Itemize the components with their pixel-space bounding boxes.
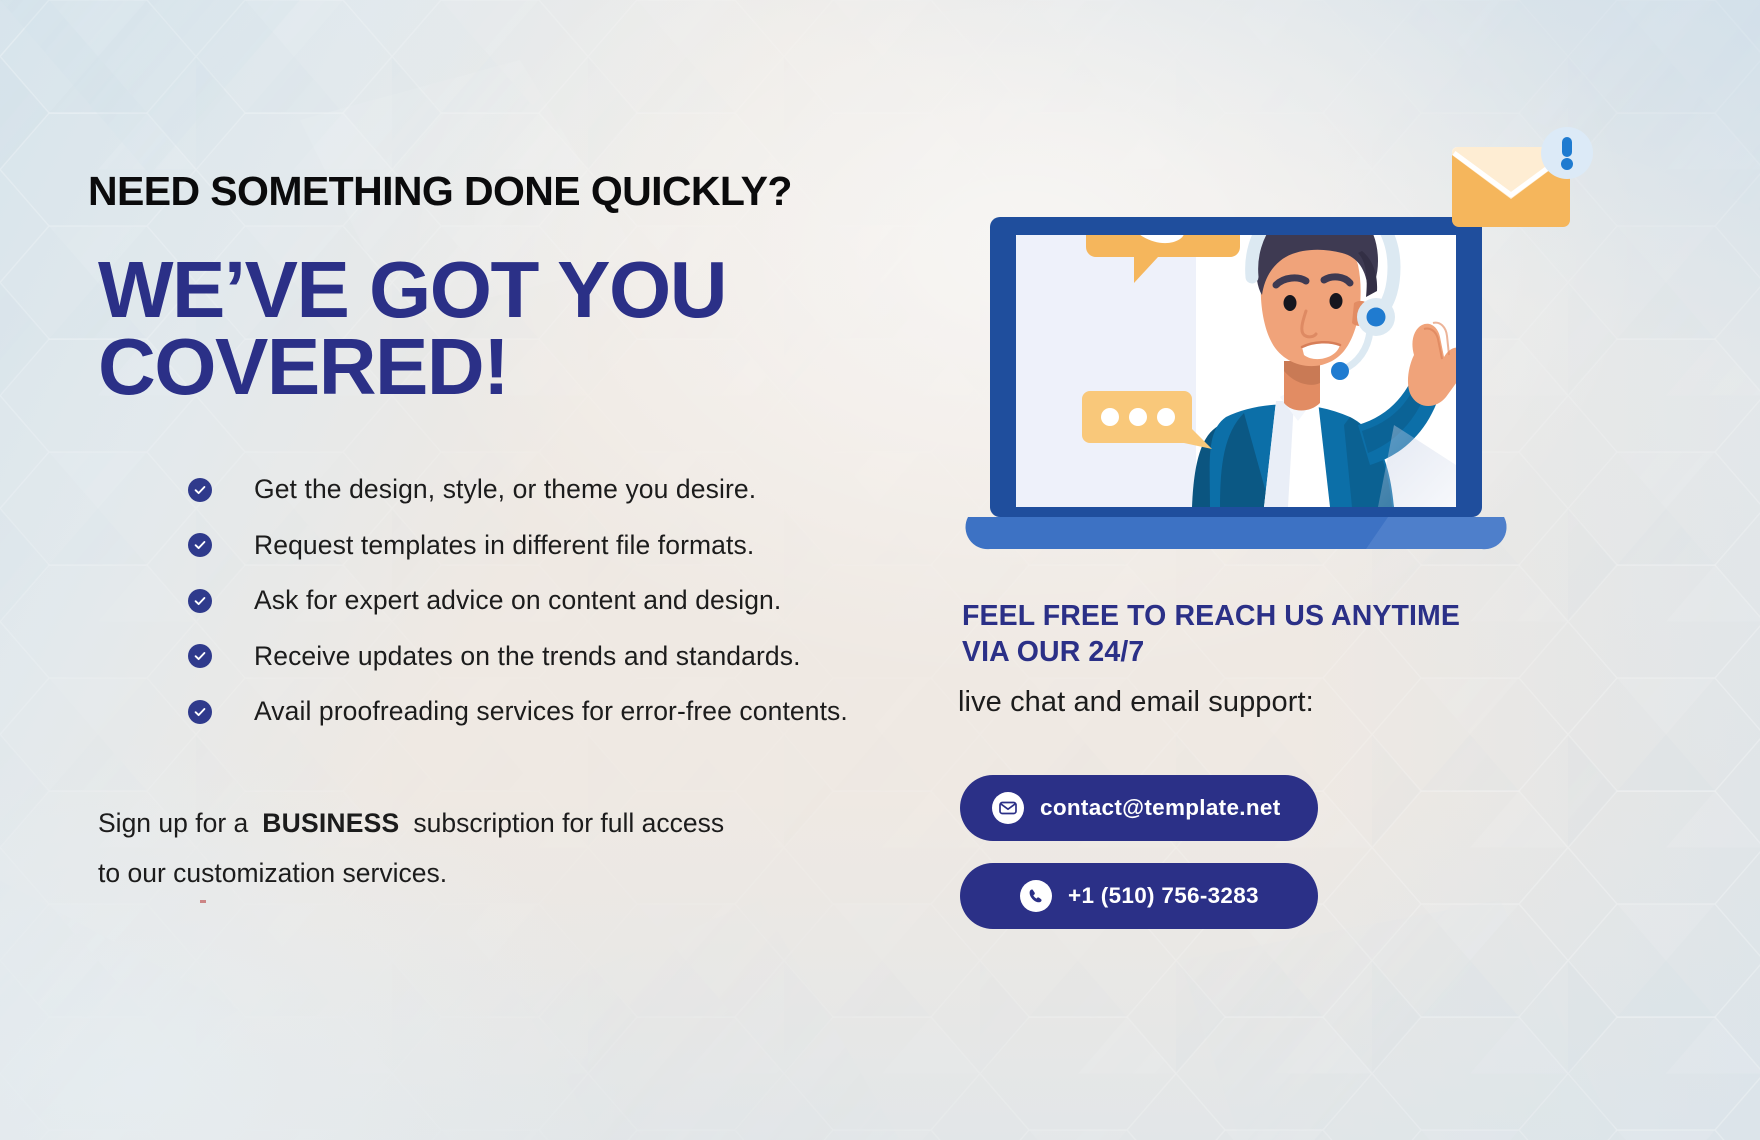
phone-icon [1020,880,1052,912]
page-title: WE’VE GOT YOU COVERED! [98,252,726,406]
right-content-column: FEEL FREE TO REACH US ANYTIME VIA OUR 24… [950,0,1710,1140]
list-item-label: Avail proofreading services for error-fr… [254,696,848,727]
list-item: Receive updates on the trends and standa… [98,629,938,685]
list-item: Avail proofreading services for error-fr… [98,684,938,740]
left-content-column: NEED SOMETHING DONE QUICKLY? WE’VE GOT Y… [88,0,948,1140]
signup-line-2: to our customization services. [98,848,928,898]
list-item: Ask for expert advice on content and des… [98,573,938,629]
reach-heading-line-1: FEEL FREE TO REACH US ANYTIME [962,598,1460,634]
contact-email-button[interactable]: contact@template.net [960,775,1318,841]
list-item-label: Receive updates on the trends and standa… [254,641,801,672]
signup-emphasis: BUSINESS [262,808,399,838]
check-circle-icon [188,644,212,668]
check-circle-icon [188,478,212,502]
headline-line-1: WE’VE GOT YOU [98,245,726,334]
contact-phone-label: +1 (510) 756-3283 [1068,883,1259,909]
signup-text-after: subscription for full access [413,808,724,838]
exclamation-badge-icon [1541,127,1593,179]
check-circle-icon [188,700,212,724]
signup-paragraph: Sign up for aBUSINESSsubscription for fu… [98,798,928,898]
reach-us-subtext: live chat and email support: [958,686,1314,719]
contact-email-label: contact@template.net [1040,795,1280,821]
decorative-mark [200,900,206,903]
list-item-label: Get the design, style, or theme you desi… [254,474,756,505]
reach-us-heading: FEEL FREE TO REACH US ANYTIME VIA OUR 24… [962,598,1460,670]
list-item: Request templates in different file form… [98,518,938,574]
check-circle-icon [188,533,212,557]
contact-phone-button[interactable]: +1 (510) 756-3283 [960,863,1318,929]
reach-heading-line-2: VIA OUR 24/7 [962,634,1460,670]
list-item-label: Request templates in different file form… [254,530,754,561]
headline-line-2: COVERED! [98,329,726,406]
customer-support-illustration [958,125,1658,575]
eyebrow-heading: NEED SOMETHING DONE QUICKLY? [88,168,792,215]
list-item-label: Ask for expert advice on content and des… [254,585,781,616]
check-circle-icon [188,589,212,613]
signup-text-before: Sign up for a [98,808,248,838]
envelope-icon [992,792,1024,824]
flyer-page: NEED SOMETHING DONE QUICKLY? WE’VE GOT Y… [0,0,1760,1140]
list-item: Get the design, style, or theme you desi… [98,462,938,518]
feature-list: Get the design, style, or theme you desi… [98,462,938,740]
signup-line-1: Sign up for aBUSINESSsubscription for fu… [98,798,928,848]
